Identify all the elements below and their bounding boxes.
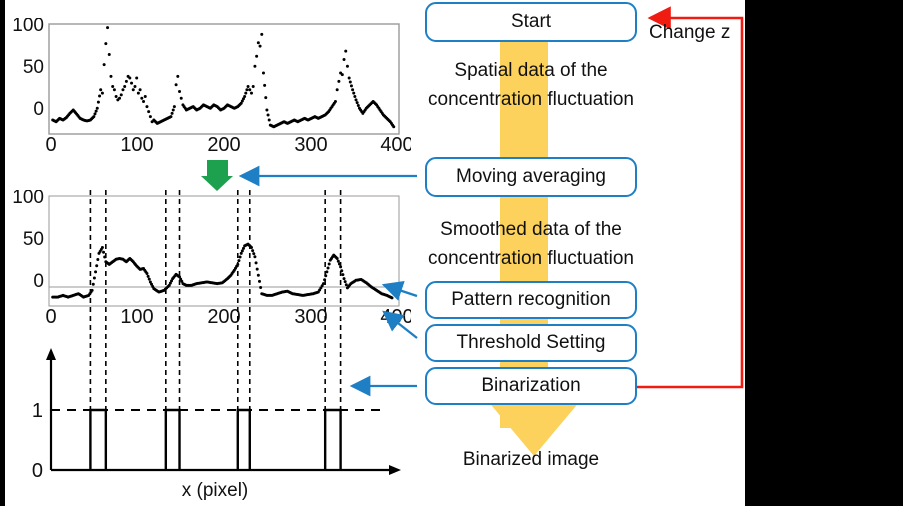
figure-root: Start Moving averaging Pattern recogniti… xyxy=(0,0,903,506)
green-arrow-head xyxy=(201,176,233,191)
figure-canvas: Start Moving averaging Pattern recogniti… xyxy=(5,0,745,506)
feedback-label: Change z xyxy=(649,22,759,44)
green-arrow-shaft xyxy=(207,160,228,177)
flow-box-moving-averaging-label: Moving averaging xyxy=(456,166,606,188)
caption-spatial-data-line2: concentration fluctuation xyxy=(417,89,645,111)
caption-spatial-data-line1: Spatial data of the xyxy=(425,60,637,82)
flow-box-pattern-recognition[interactable]: Pattern recognition xyxy=(425,281,637,319)
flow-box-binarization-label: Binarization xyxy=(481,375,580,397)
flow-box-threshold-setting[interactable]: Threshold Setting xyxy=(425,324,637,362)
flow-box-pattern-recognition-label: Pattern recognition xyxy=(451,289,611,311)
flow-box-threshold-setting-label: Threshold Setting xyxy=(457,332,606,354)
caption-smoothed-data-line2: concentration fluctuation xyxy=(417,248,645,270)
feedback-loop-line xyxy=(637,18,742,387)
caption-binarized-image: Binarized image xyxy=(425,449,637,471)
flow-box-moving-averaging[interactable]: Moving averaging xyxy=(425,157,637,197)
flow-box-binarization[interactable]: Binarization xyxy=(425,367,637,405)
caption-smoothed-data-line1: Smoothed data of the xyxy=(425,219,637,241)
connector-threshold-setting xyxy=(384,312,417,338)
flow-box-start-label: Start xyxy=(511,11,551,33)
flow-box-start[interactable]: Start xyxy=(425,2,637,42)
connector-pattern-recognition xyxy=(384,285,417,296)
